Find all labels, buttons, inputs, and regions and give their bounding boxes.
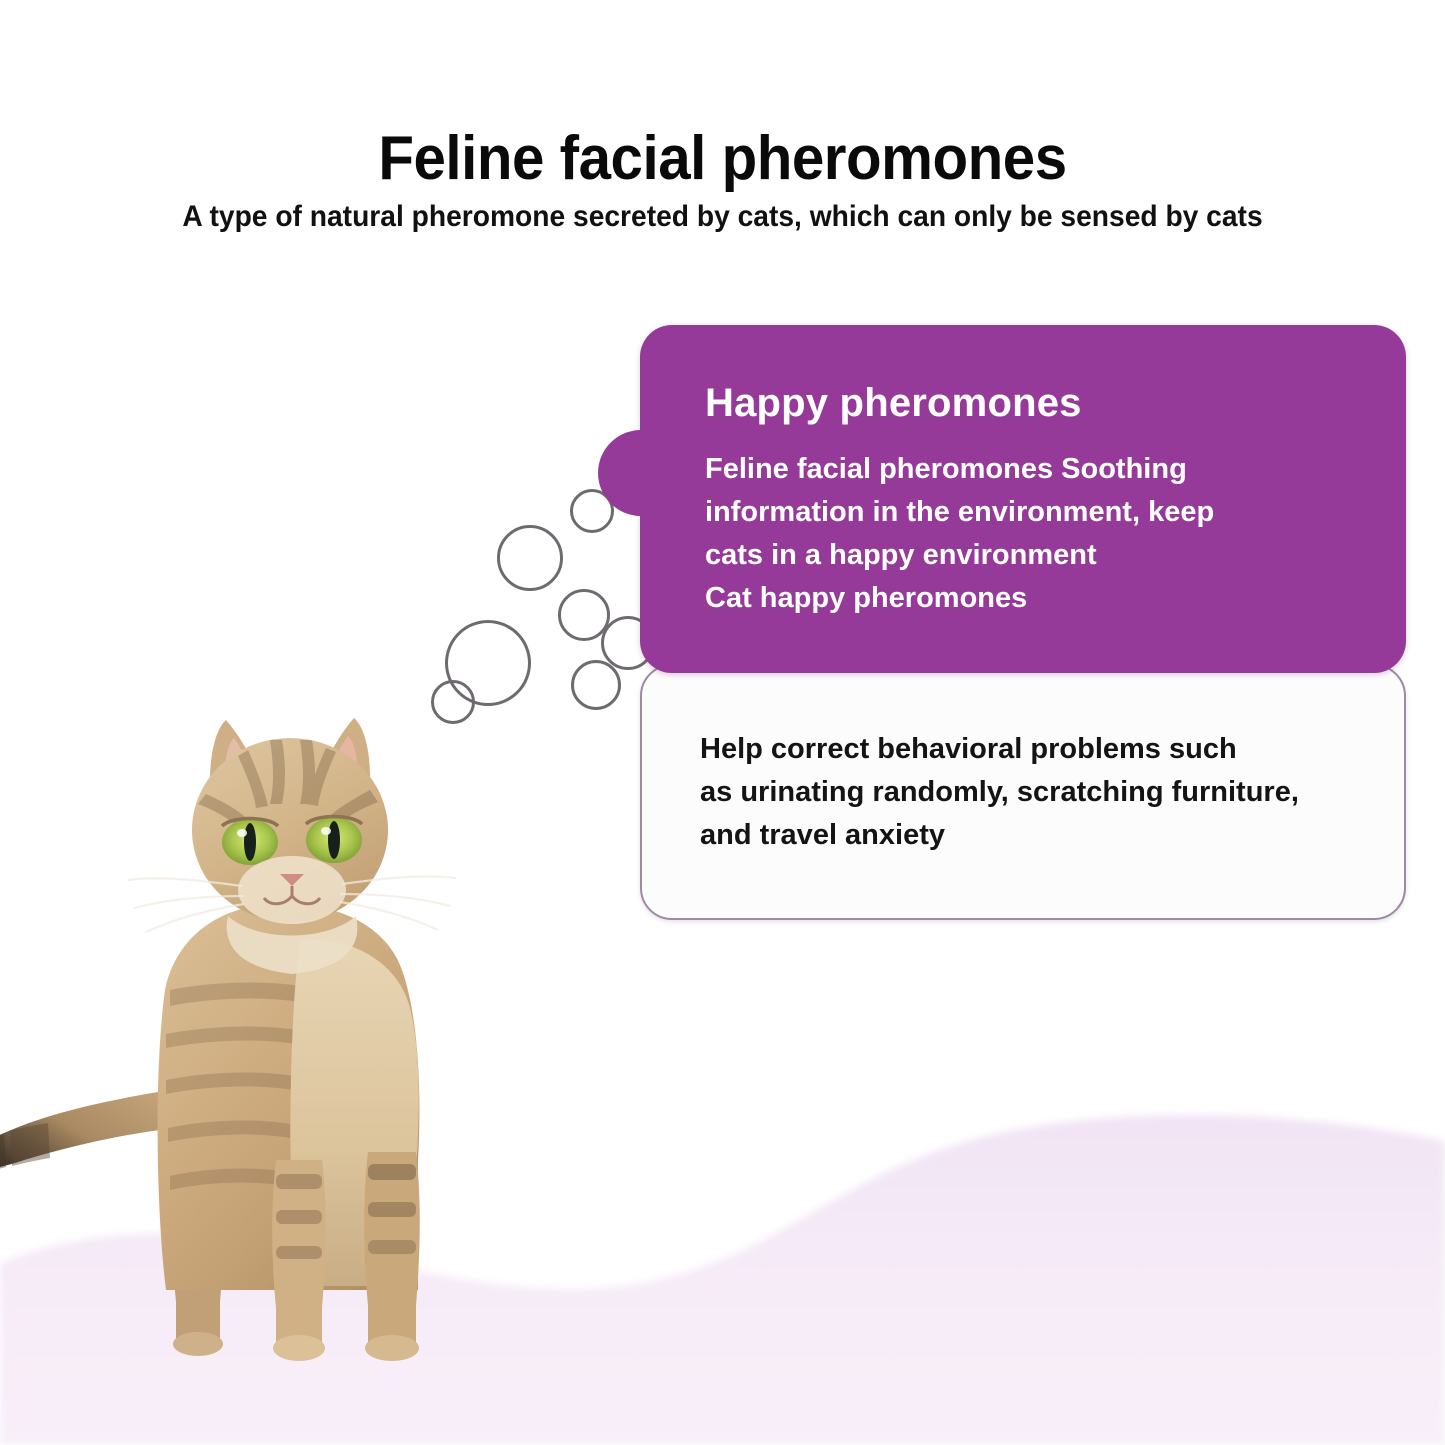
poster-canvas: Feline facial pheromones A type of natur…	[0, 0, 1445, 1445]
happy-pheromones-text: Feline facial pheromones Soothing inform…	[705, 448, 1360, 620]
cat-svg	[0, 690, 610, 1370]
happy-pheromones-line: Feline facial pheromones Soothing	[705, 448, 1360, 491]
happy-pheromones-line: cats in a happy environment	[705, 534, 1360, 577]
tabby-cat-photo	[0, 690, 610, 1370]
cat-pupil-left	[244, 823, 256, 861]
cat-paw-front-left	[273, 1335, 325, 1361]
behavior-info-text: Help correct behavioral problems such as…	[700, 728, 1374, 857]
bubble	[497, 525, 563, 591]
behavior-info-line: and travel anxiety	[700, 814, 1374, 857]
page-title: Feline facial pheromones	[43, 122, 1401, 196]
happy-pheromones-card: Happy pheromones Feline facial pheromone…	[640, 325, 1406, 673]
happy-pheromones-line: information in the environment, keep	[705, 491, 1360, 534]
thought-bubbles-icon	[430, 485, 650, 715]
behavior-info-card: Help correct behavioral problems such as…	[640, 664, 1406, 920]
behavior-info-line: Help correct behavioral problems such	[700, 728, 1374, 771]
bubble	[431, 680, 475, 724]
cat-pupil-right	[328, 821, 340, 859]
bubble	[571, 660, 621, 710]
cat-paw-hind	[173, 1332, 223, 1356]
page-subtitle: A type of natural pheromone secreted by …	[43, 196, 1401, 238]
cat-eye-highlight-right	[321, 827, 331, 835]
behavior-info-card-content: Help correct behavioral problems such as…	[642, 666, 1404, 857]
cat-eye-highlight-left	[237, 829, 247, 837]
happy-pheromones-line: Cat happy pheromones	[705, 577, 1360, 620]
cat-paw-front-right	[365, 1335, 419, 1361]
behavior-info-line: as urinating randomly, scratching furnit…	[700, 771, 1374, 814]
happy-pheromones-card-content: Happy pheromones Feline facial pheromone…	[640, 325, 1406, 620]
happy-pheromones-heading: Happy pheromones	[705, 380, 1360, 426]
